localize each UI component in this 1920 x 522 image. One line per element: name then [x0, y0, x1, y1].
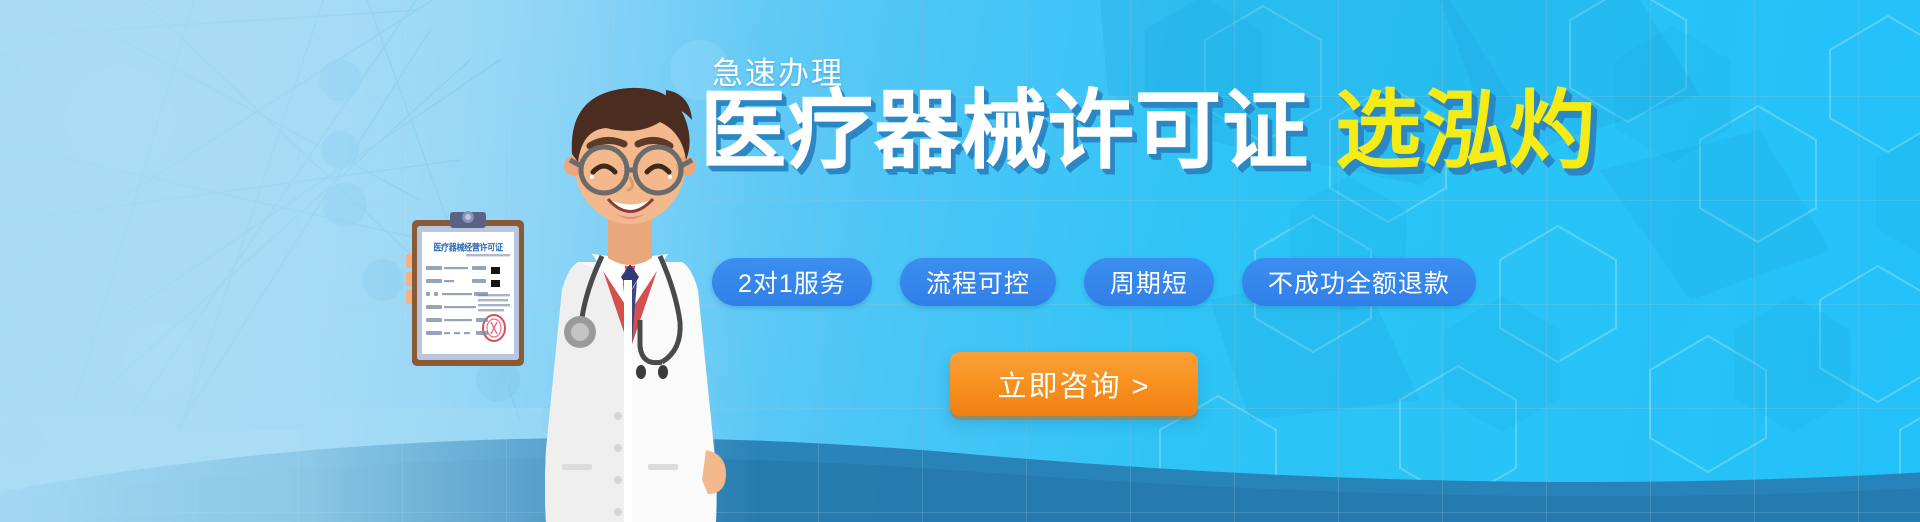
feature-pill[interactable]: 流程可控	[900, 258, 1056, 306]
headline-accent-text: 选泓灼	[1335, 88, 1596, 174]
promo-banner: 医疗器械经营许可证	[0, 0, 1920, 522]
consult-now-button[interactable]: 立即咨询 >	[950, 352, 1198, 416]
headline-main-text: 医疗器械许可证	[700, 88, 1309, 174]
feature-pill[interactable]: 不成功全额退款	[1242, 258, 1476, 306]
page-title: 医疗器械许可证 选泓灼	[700, 88, 1596, 174]
feature-pill[interactable]: 周期短	[1084, 258, 1214, 306]
feature-pill-list: 2对1服务 流程可控 周期短 不成功全额退款	[712, 258, 1476, 306]
feature-pill[interactable]: 2对1服务	[712, 258, 872, 306]
